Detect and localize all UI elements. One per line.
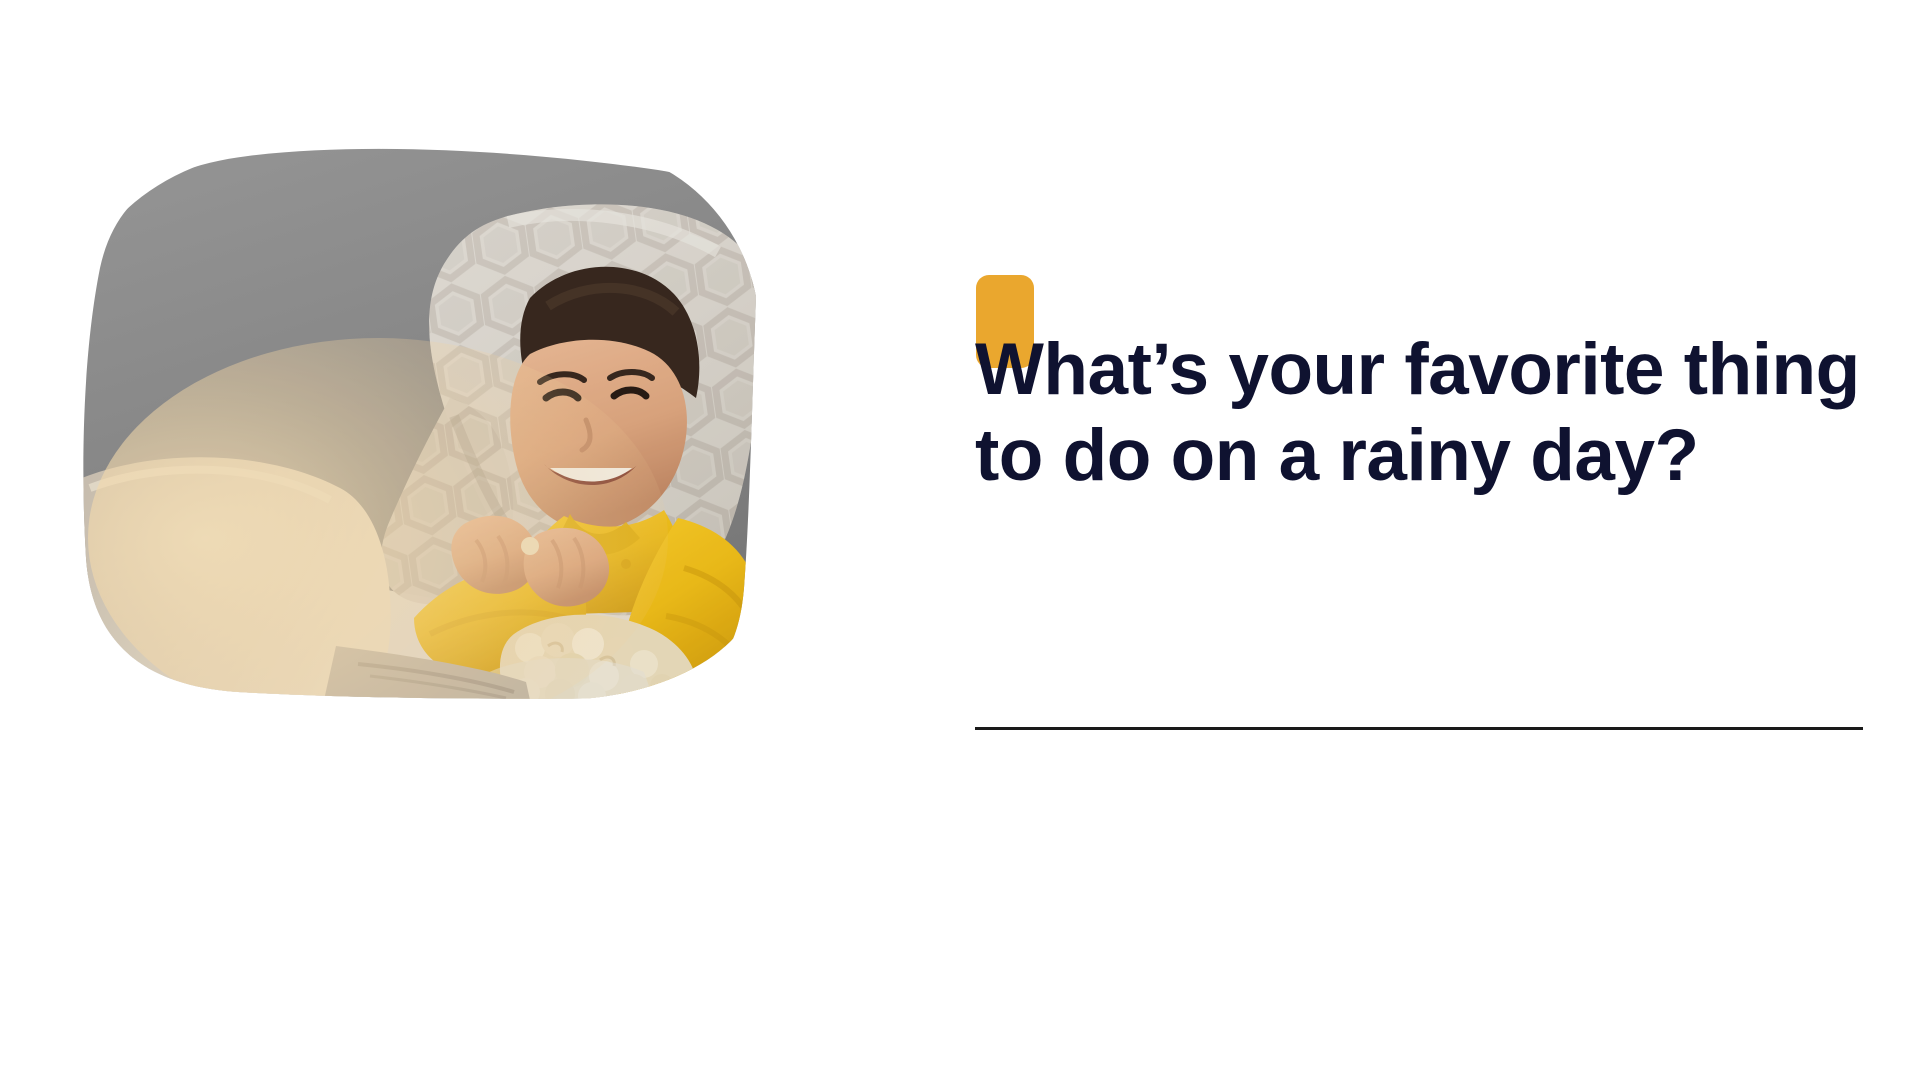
photo-illustration — [78, 148, 760, 700]
heading-divider — [975, 727, 1863, 730]
page-title: What’s your favorite thing to do on a ra… — [975, 327, 1870, 499]
slide-canvas: What’s your favorite thing to do on a ra… — [0, 0, 1920, 1080]
photo-blob — [78, 148, 760, 700]
content-column: What’s your favorite thing to do on a ra… — [975, 0, 1865, 1080]
